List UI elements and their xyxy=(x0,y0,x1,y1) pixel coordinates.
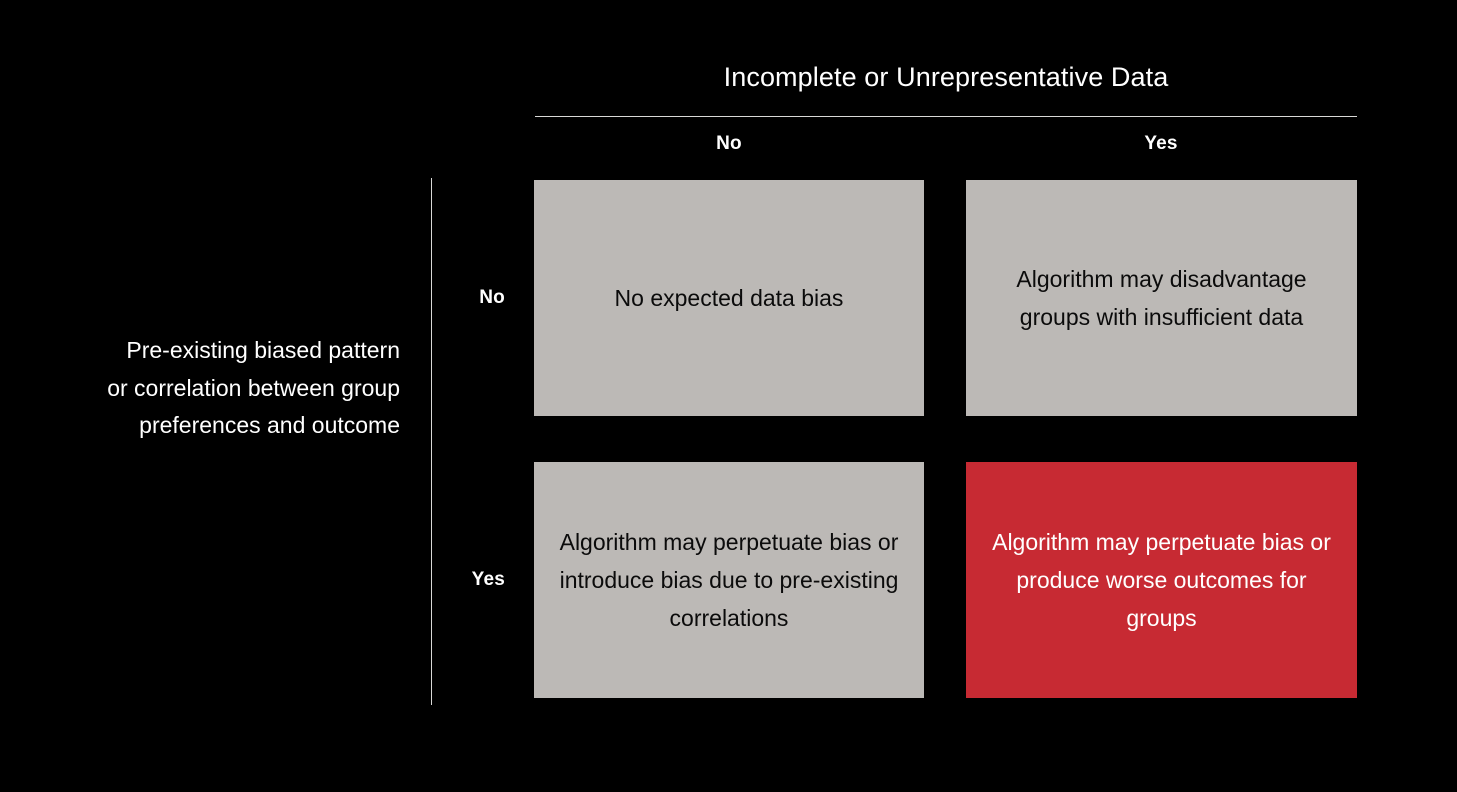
matrix-cell-yes-yes: Algorithm may perpetuate bias or produce… xyxy=(966,462,1357,698)
matrix-cell-text: Algorithm may perpetuate bias or produce… xyxy=(980,523,1343,638)
column-header-rule xyxy=(535,116,1357,117)
column-axis-title: Incomplete or Unrepresentative Data xyxy=(535,62,1357,93)
matrix-cell-no-yes: Algorithm may disadvantage groups with i… xyxy=(966,180,1357,416)
row-header-yes: Yes xyxy=(405,569,505,591)
row-header-no: No xyxy=(405,287,505,309)
matrix-cell-text: Algorithm may perpetuate bias or introdu… xyxy=(548,523,910,638)
column-header-no: No xyxy=(629,133,829,155)
matrix-figure: Incomplete or Unrepresentative Data No Y… xyxy=(0,0,1457,792)
row-axis-title: Pre-existing biased pattern or correlati… xyxy=(100,332,400,445)
matrix-cell-no-no: No expected data bias xyxy=(534,180,924,416)
matrix-cell-yes-no: Algorithm may perpetuate bias or introdu… xyxy=(534,462,924,698)
matrix-cell-text: No expected data bias xyxy=(548,279,910,317)
row-axis-line xyxy=(431,178,432,705)
matrix-cell-text: Algorithm may disadvantage groups with i… xyxy=(980,260,1343,336)
column-header-yes: Yes xyxy=(1061,133,1261,155)
